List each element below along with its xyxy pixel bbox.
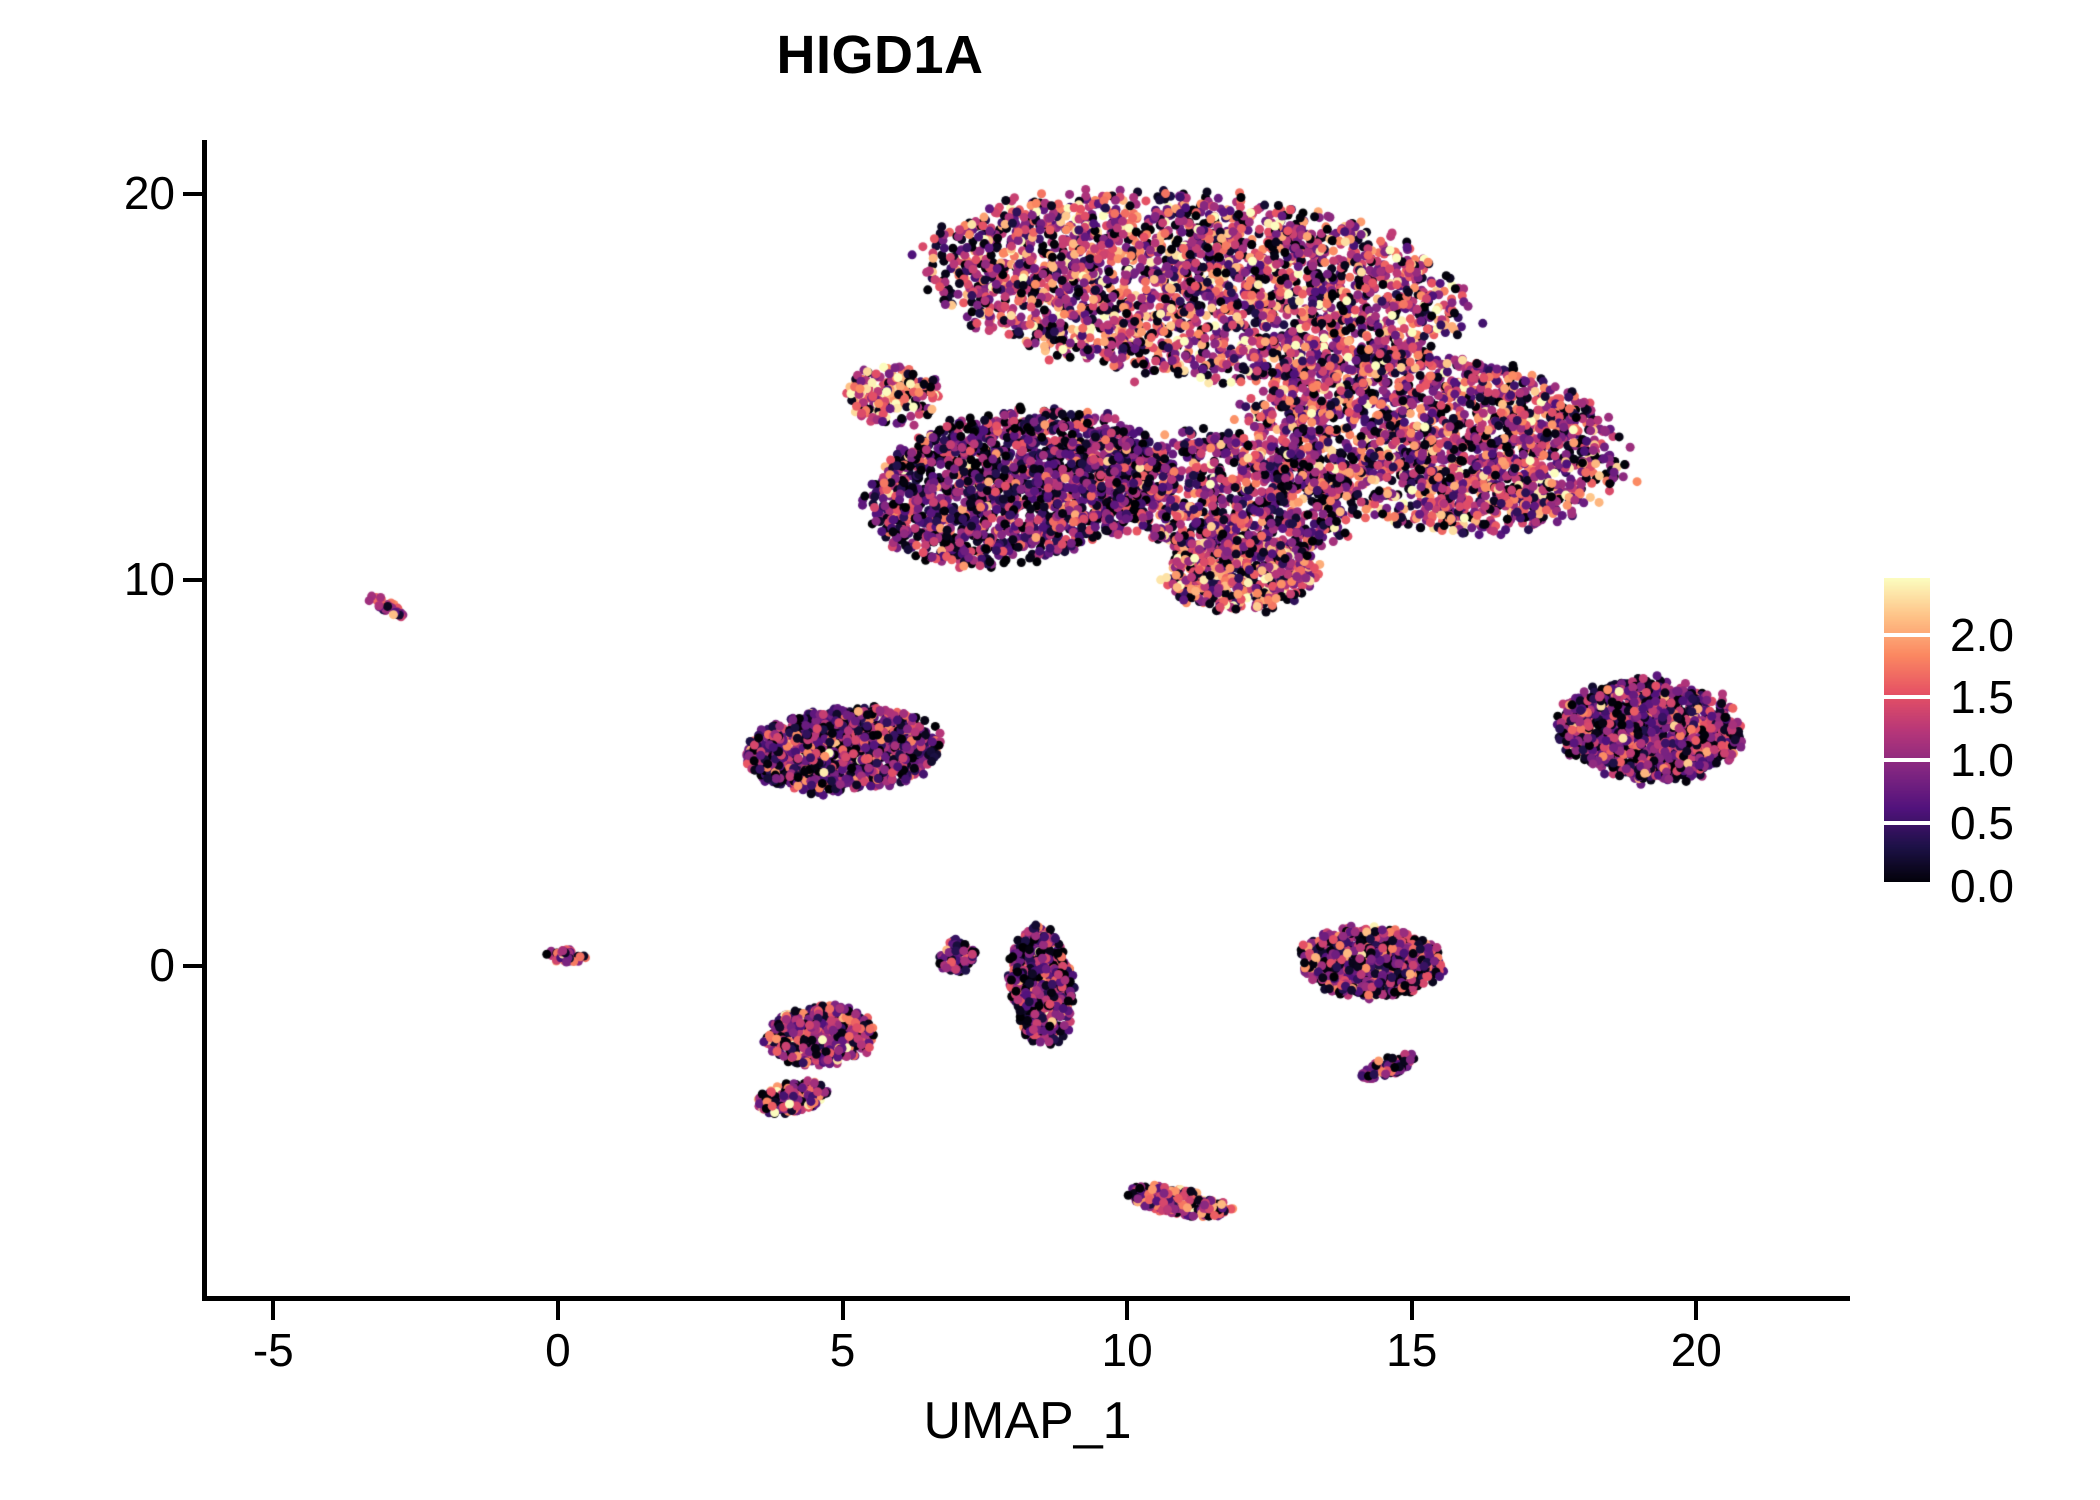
color-legend: 2.01.51.00.50.0	[1884, 578, 2084, 918]
colorbar-tick-mark	[1884, 821, 1930, 825]
colorbar-tick-mark	[1884, 758, 1930, 762]
y-tick-mark	[183, 578, 202, 582]
colorbar-tick-label: 0.5	[1950, 800, 2014, 846]
x-tick-mark	[841, 1301, 845, 1320]
colorbar-tick-mark	[1884, 695, 1930, 699]
x-tick-label: 0	[458, 1325, 658, 1377]
colorbar-tick-label: 0.0	[1950, 863, 2014, 909]
y-axis-line	[202, 140, 207, 1301]
scatter-plot-canvas	[205, 140, 1850, 1298]
page-title: HIGD1A	[0, 28, 1760, 82]
colorbar-tick-mark	[1884, 882, 1930, 886]
colorbar-tick-label: 2.0	[1950, 612, 2014, 658]
x-tick-label: 10	[1027, 1325, 1227, 1377]
x-tick-label: -5	[173, 1325, 373, 1377]
y-tick-mark	[183, 192, 202, 196]
colorbar-tick-mark	[1884, 633, 1930, 637]
colorbar-tick-label: 1.5	[1950, 674, 2014, 720]
colorbar-tick-label: 1.0	[1950, 737, 2014, 783]
y-tick-mark	[183, 964, 202, 968]
x-tick-label: 5	[743, 1325, 943, 1377]
x-tick-mark	[271, 1301, 275, 1320]
y-tick-label: 10	[0, 556, 175, 602]
x-tick-mark	[1410, 1301, 1414, 1320]
colorbar-gradient	[1884, 578, 1930, 886]
x-tick-mark	[556, 1301, 560, 1320]
x-tick-label: 15	[1312, 1325, 1512, 1377]
x-tick-label: 20	[1596, 1325, 1796, 1377]
y-axis-label: UMAP_2	[18, 0, 76, 198]
x-tick-mark	[1125, 1301, 1129, 1320]
y-tick-label: 0	[0, 942, 175, 988]
plot-panel	[205, 140, 1850, 1298]
x-axis-label: UMAP_1	[205, 1395, 1850, 1447]
umap-feature-plot: HIGD1A -505101520 01020 UMAP_1 UMAP_2 2.…	[0, 0, 2100, 1500]
x-axis-line	[202, 1296, 1850, 1301]
x-tick-mark	[1694, 1301, 1698, 1320]
